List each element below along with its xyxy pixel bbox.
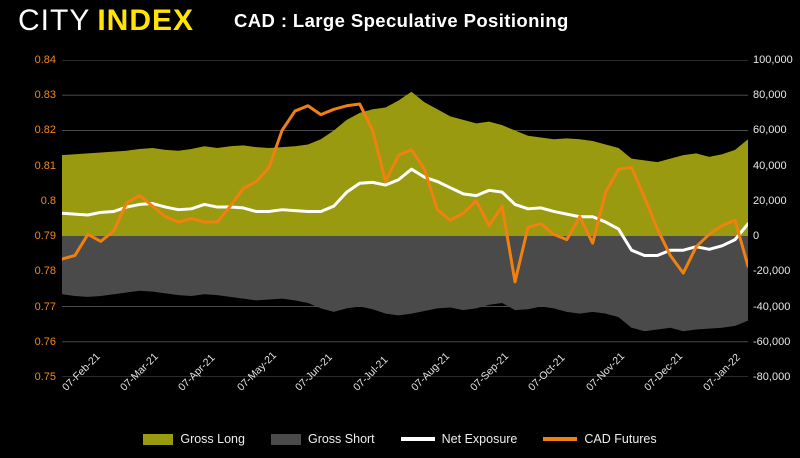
header: CITYINDEX CAD : Large Speculative Positi… bbox=[0, 0, 800, 46]
legend-label: CAD Futures bbox=[584, 432, 656, 446]
x-axis-tick-label: 07-Nov-21 bbox=[584, 385, 592, 393]
legend-swatch-line bbox=[401, 437, 435, 441]
chart-screenshot: CITYINDEX CAD : Large Speculative Positi… bbox=[0, 0, 800, 458]
legend-item[interactable]: CAD Futures bbox=[543, 432, 656, 446]
left-axis: 0.750.760.770.780.790.80.810.820.830.84 bbox=[0, 60, 56, 377]
left-axis-tick-label: 0.84 bbox=[10, 55, 56, 65]
right-axis-tick-label: -80,000 bbox=[753, 372, 790, 382]
left-axis-tick-label: 0.82 bbox=[10, 125, 56, 135]
left-axis-tick-label: 0.76 bbox=[10, 337, 56, 347]
x-axis-tick-label: 07-Feb-21 bbox=[60, 385, 68, 393]
right-axis-tick-label: 80,000 bbox=[753, 90, 787, 100]
x-axis-tick-label: 07-Jan-22 bbox=[701, 385, 709, 393]
plot-area bbox=[62, 60, 748, 377]
x-axis-tick-label: 07-May-21 bbox=[235, 385, 243, 393]
x-axis-tick-label: 07-Sep-21 bbox=[468, 385, 476, 393]
right-axis-tick-label: -60,000 bbox=[753, 337, 790, 347]
area-gross-short bbox=[62, 236, 748, 331]
logo-text-city: CITY bbox=[18, 4, 90, 37]
x-axis-tick-label: 07-Oct-21 bbox=[526, 385, 534, 393]
legend-item[interactable]: Gross Short bbox=[271, 432, 375, 446]
legend-swatch-line bbox=[543, 437, 577, 441]
left-axis-tick-label: 0.8 bbox=[10, 196, 56, 206]
right-axis-tick-label: 20,000 bbox=[753, 196, 787, 206]
x-axis-tick-label: 07-Mar-21 bbox=[118, 385, 126, 393]
legend-label: Gross Long bbox=[180, 432, 245, 446]
right-axis: -80,000-60,000-40,000-20,000020,00040,00… bbox=[753, 60, 800, 377]
left-axis-tick-label: 0.83 bbox=[10, 90, 56, 100]
right-axis-tick-label: 40,000 bbox=[753, 161, 787, 171]
x-axis-tick-label: 07-Apr-21 bbox=[176, 385, 184, 393]
legend: Gross LongGross ShortNet ExposureCAD Fut… bbox=[0, 425, 800, 453]
logo-text-index: INDEX bbox=[97, 4, 194, 37]
right-axis-tick-label: 60,000 bbox=[753, 125, 787, 135]
legend-label: Gross Short bbox=[308, 432, 375, 446]
legend-swatch-area bbox=[143, 434, 173, 445]
chart-container: 0.750.760.770.780.790.80.810.820.830.84 … bbox=[0, 46, 800, 458]
x-axis-tick-label: 07-Jul-21 bbox=[351, 385, 359, 393]
left-axis-tick-label: 0.81 bbox=[10, 161, 56, 171]
left-axis-tick-label: 0.79 bbox=[10, 231, 56, 241]
left-axis-tick-label: 0.75 bbox=[10, 372, 56, 382]
left-axis-tick-label: 0.77 bbox=[10, 302, 56, 312]
legend-label: Net Exposure bbox=[442, 432, 518, 446]
x-axis-tick-label: 07-Aug-21 bbox=[409, 385, 417, 393]
x-axis-tick-label: 07-Dec-21 bbox=[642, 385, 650, 393]
legend-item[interactable]: Net Exposure bbox=[401, 432, 518, 446]
chart-svg bbox=[62, 60, 748, 377]
right-axis-tick-label: 100,000 bbox=[753, 55, 793, 65]
left-axis-tick-label: 0.78 bbox=[10, 266, 56, 276]
city-index-logo: CITYINDEX bbox=[18, 4, 194, 38]
x-axis-tick-label: 07-Jun-21 bbox=[293, 385, 301, 393]
legend-swatch-area bbox=[271, 434, 301, 445]
right-axis-tick-label: -20,000 bbox=[753, 266, 790, 276]
right-axis-tick-label: 0 bbox=[753, 231, 759, 241]
right-axis-tick-label: -40,000 bbox=[753, 302, 790, 312]
legend-item[interactable]: Gross Long bbox=[143, 432, 245, 446]
chart-title: CAD : Large Speculative Positioning bbox=[234, 10, 569, 32]
